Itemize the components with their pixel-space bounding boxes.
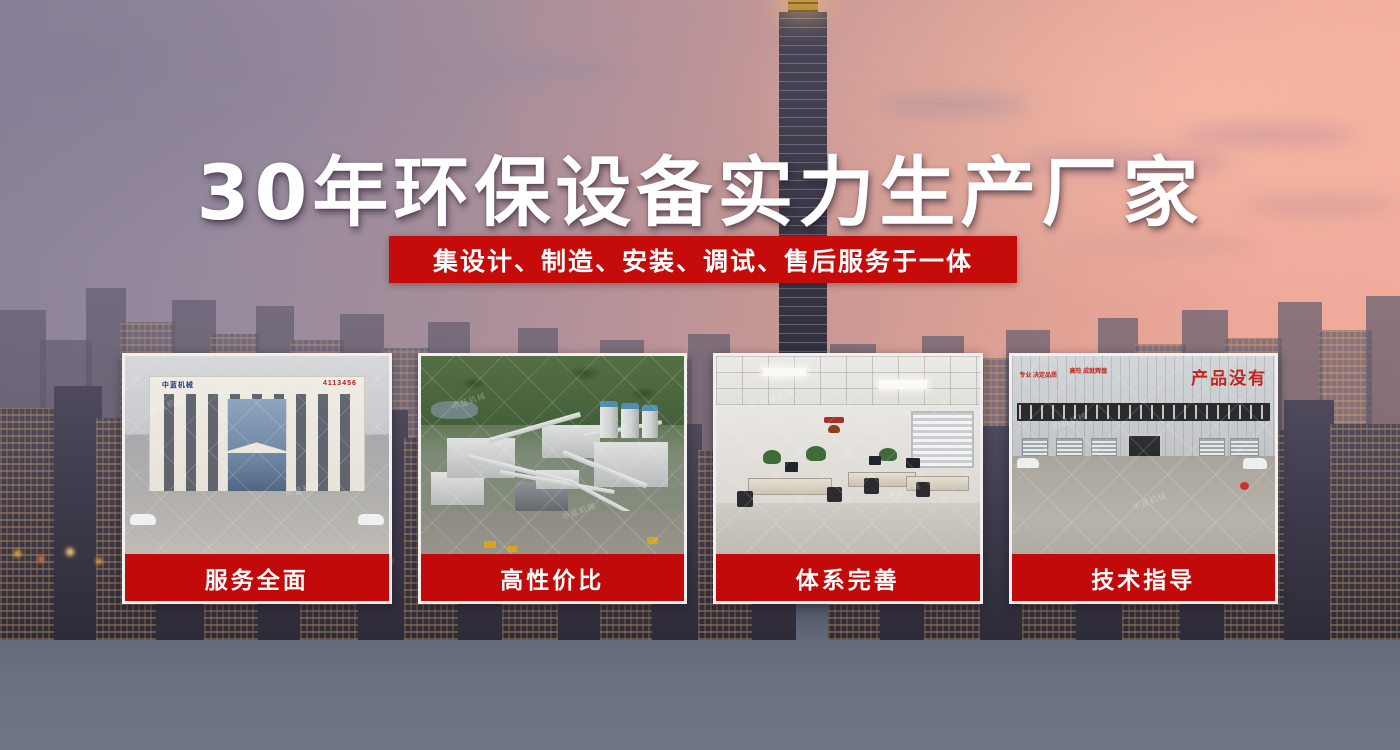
card-photo-plant-aerial: 中蓝机械 中蓝机械	[421, 356, 685, 560]
card-photo-factory-workers: 产品没有 专业 决定品质 高效 成就辉煌	[1012, 356, 1276, 560]
card-label-service: 服务全面	[125, 554, 389, 601]
card-photo-office: 中蓝机械 中蓝机械	[716, 356, 980, 560]
subtitle-banner: 集设计、制造、安装、调试、售后服务于一体	[389, 236, 1017, 283]
feature-card-system[interactable]: 中蓝机械 中蓝机械 体系完善	[713, 353, 983, 604]
wall-emblem-icon	[821, 417, 847, 439]
feature-card-service[interactable]: 中蓝机械 4113456	[122, 353, 392, 604]
promo-banner: 30年环保设备实力生产厂家 集设计、制造、安装、调试、售后服务于一体 中蓝机械 …	[0, 0, 1400, 750]
card-label-text: 高性价比	[500, 561, 604, 595]
subtitle-text: 集设计、制造、安装、调试、售后服务于一体	[433, 242, 973, 278]
feature-card-guidance[interactable]: 产品没有 专业 决定品质 高效 成就辉煌	[1009, 353, 1279, 604]
card-label-value: 高性价比	[421, 554, 685, 601]
card-label-text: 技术指导	[1091, 561, 1195, 595]
card-label-text: 服务全面	[205, 561, 309, 595]
card-photo-headquarters: 中蓝机械 4113456	[125, 356, 389, 560]
feature-card-value[interactable]: 中蓝机械 中蓝机械 高性价比	[418, 353, 688, 604]
card-label-guidance: 技术指导	[1012, 554, 1276, 601]
feature-card-list: 中蓝机械 4113456	[122, 353, 1278, 604]
page-title: 30年环保设备实力生产厂家	[0, 131, 1400, 241]
card-label-text: 体系完善	[796, 561, 900, 595]
factory-slogan-line1: 专业 决定品质	[1019, 372, 1057, 381]
building-phone-text: 4113456	[323, 380, 357, 387]
factory-slogan-line2: 高效 成就辉煌	[1069, 368, 1107, 377]
building-sign-text: 中蓝机械	[162, 380, 194, 390]
card-label-system: 体系完善	[716, 554, 980, 601]
factory-sign-text: 产品没有	[1191, 364, 1267, 389]
